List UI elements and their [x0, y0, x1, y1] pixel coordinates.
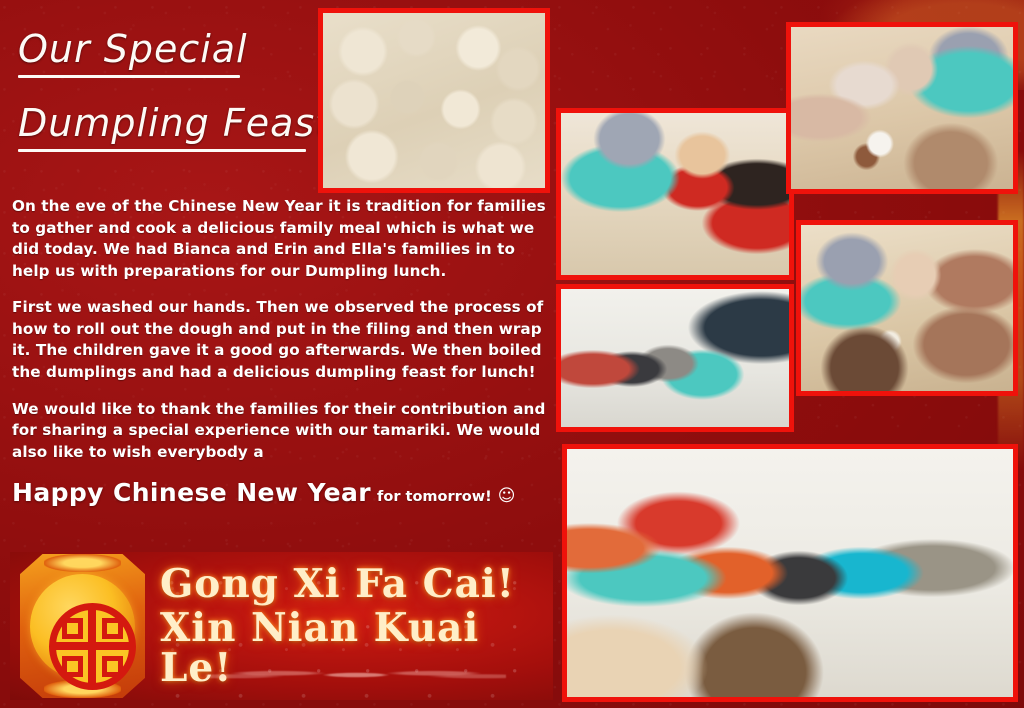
- banner-flourish-ornament: [206, 664, 506, 686]
- photo-cooked-dumplings: [318, 8, 550, 193]
- article-body: On the eve of the Chinese New Year it is…: [12, 196, 550, 507]
- page-title: Our Special Dumpling Feast: [18, 30, 348, 152]
- photo-family-greeting-image: [567, 449, 1013, 697]
- medallion-quadrant-top-left: [62, 618, 83, 639]
- medallion-disc: [30, 574, 135, 679]
- new-year-greeting-banner: Gong Xi Fa Cai! Xin Nian Kuai Le!: [10, 552, 553, 700]
- medallion-top-ornament: [44, 554, 121, 572]
- paragraph-process: First we washed our hands. Then we obser…: [12, 297, 550, 383]
- greeting-tail: for tomorrow!: [377, 489, 492, 505]
- banner-line-gong-xi-fa-cai: Gong Xi Fa Cai!: [160, 564, 545, 605]
- title-underline-two: [18, 149, 306, 152]
- paragraph-thanks: We would like to thank the families for …: [12, 399, 550, 464]
- photo-table-fillings-image: [791, 27, 1013, 189]
- photo-cooked-dumplings-image: [323, 13, 545, 188]
- greeting-line: Happy Chinese New Year for tomorrow! ☺: [12, 478, 550, 507]
- photo-wrapping-dumplings: [796, 220, 1018, 396]
- medallion-bar-vertical: [88, 606, 96, 687]
- paragraph-intro: On the eve of the Chinese New Year it is…: [12, 196, 550, 282]
- title-line-one: Our Special: [18, 30, 348, 68]
- photo-adults-group: [556, 284, 794, 432]
- title-underline-one: [18, 75, 240, 78]
- medallion-quadrant-bottom-left: [62, 656, 83, 677]
- photo-family-greeting: [562, 444, 1018, 702]
- photo-wrapping-dumplings-image: [801, 225, 1013, 391]
- photo-adults-group-image: [561, 289, 789, 427]
- newsletter-poster: Our Special Dumpling Feast On the eve of…: [0, 0, 1024, 708]
- shou-longevity-medallion-icon: [20, 554, 145, 698]
- smiley-face-icon: ☺: [498, 486, 516, 506]
- medallion-quadrant-bottom-right: [102, 656, 123, 677]
- medallion-quadrant-top-right: [102, 618, 123, 639]
- photo-rolling-dough: [556, 108, 794, 280]
- photo-table-fillings: [786, 22, 1018, 194]
- title-line-two: Dumpling Feast: [18, 104, 348, 142]
- greeting-headline: Happy Chinese New Year: [12, 478, 371, 507]
- photo-rolling-dough-image: [561, 113, 789, 275]
